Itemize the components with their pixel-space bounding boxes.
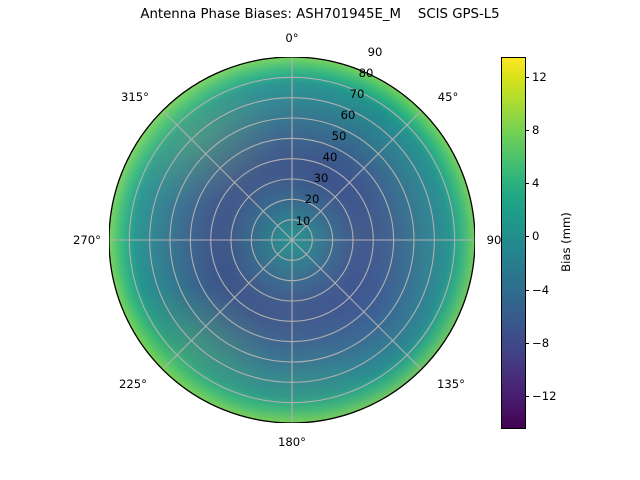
colorbar-tick-mark-0 (525, 77, 529, 78)
colorbar-tick-label-6: −12 (532, 389, 556, 403)
colorbar-tick-mark-3 (525, 236, 529, 237)
radial-tick-20: 20 (305, 192, 320, 206)
radial-tick-60: 60 (341, 108, 356, 122)
polar-plot[interactable]: 0° 45° 90 135° 180° 225° 270° 315° 10 20… (109, 57, 475, 423)
colorbar-axis-label: Bias (mm) (559, 212, 573, 272)
colorbar-tick-mark-6 (525, 396, 529, 397)
colorbar-tick-label-0: 12 (532, 70, 547, 84)
colorbar[interactable] (501, 57, 526, 429)
figure-canvas: Antenna Phase Biases: ASH701945E_M SCIS … (0, 0, 640, 480)
colorbar-tick-label-4: −4 (532, 283, 549, 297)
angular-tick-135: 135° (437, 377, 465, 391)
angular-tick-315: 315° (121, 90, 149, 104)
colorbar-tick-label-2: 4 (532, 176, 539, 190)
angular-tick-45: 45° (438, 90, 459, 104)
colorbar-tick-label-1: 8 (532, 123, 539, 137)
colorbar-tick-mark-2 (525, 183, 529, 184)
radial-tick-50: 50 (332, 129, 347, 143)
angular-tick-90: 90 (487, 233, 502, 247)
colorbar-gradient (502, 58, 525, 428)
radial-tick-10: 10 (296, 214, 311, 228)
radial-tick-90: 90 (368, 45, 383, 59)
angular-tick-270: 270° (73, 233, 101, 247)
polar-plot-svg (109, 57, 475, 423)
angular-tick-0: 0° (285, 31, 298, 45)
colorbar-tick-label-3: 0 (532, 229, 539, 243)
colorbar-tick-mark-4 (525, 290, 529, 291)
radial-tick-40: 40 (323, 150, 338, 164)
page-title: Antenna Phase Biases: ASH701945E_M SCIS … (0, 7, 640, 22)
colorbar-tick-label-5: −8 (532, 336, 549, 350)
colorbar-tick-mark-5 (525, 343, 529, 344)
radial-tick-70: 70 (350, 87, 365, 101)
radial-tick-80: 80 (359, 66, 374, 80)
angular-tick-180: 180° (278, 435, 306, 449)
angular-gridlines (109, 57, 475, 423)
radial-tick-30: 30 (314, 171, 329, 185)
colorbar-tick-mark-1 (525, 130, 529, 131)
angular-tick-225: 225° (119, 377, 147, 391)
